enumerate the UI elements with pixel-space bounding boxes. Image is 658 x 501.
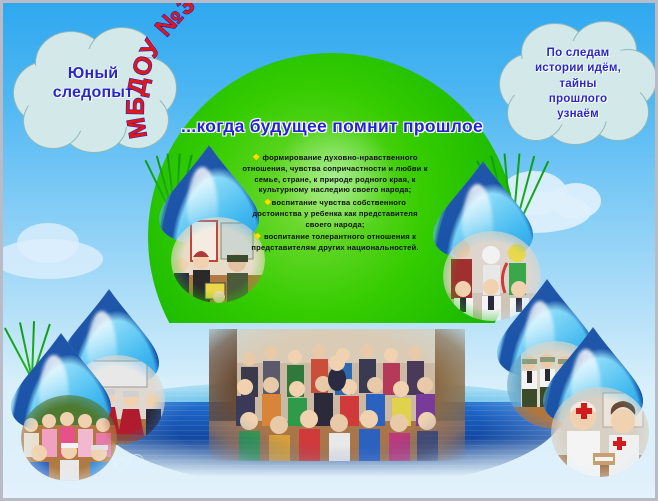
sky-cloud-right-c — [551, 183, 601, 219]
left-cloud-text: Юный следопыт — [9, 65, 177, 103]
droplet-outdoor-group — [11, 333, 127, 501]
aim-item-2: ❖воспитание чувства собственного достоин… — [239, 196, 431, 230]
aims-text-block: ❖ формирование духовно-нравственного отн… — [239, 151, 431, 254]
right-cloud-line-2: истории идём, — [499, 60, 657, 75]
droplet-nurse-roleplay — [543, 327, 658, 501]
aim-text-3: воспитание толерантного отношения к пред… — [251, 232, 418, 252]
right-cloud-text: По следам истории идём, тайны прошлого у… — [499, 45, 657, 121]
bullet-star-icon-1: ❖ — [252, 152, 260, 162]
aim-text-1: формирование духовно-нравственного отнош… — [242, 153, 427, 194]
photo-large-group-portrait — [209, 329, 465, 461]
right-cloud-line-4: прошлого — [499, 91, 657, 106]
bullet-star-icon-2: ❖ — [264, 197, 272, 207]
poster-canvas: МБДОУ №3 «Т а м ч ы к а й» ...когда буду… — [0, 0, 658, 501]
right-cloud-line-3: тайны — [499, 76, 657, 91]
photo-outdoor-group-national-costumes — [21, 395, 117, 481]
left-cloud-line-2: следопыт — [9, 84, 177, 103]
bullet-star-icon-3: ❖ — [254, 231, 262, 241]
photo-nurse-roleplay — [551, 387, 649, 477]
aim-text-2: воспитание чувства собственного достоинс… — [252, 198, 417, 229]
outdoor-group-art — [21, 395, 117, 481]
left-cloud-line-1: Юный — [9, 65, 177, 84]
right-cloud-line-1: По следам — [499, 45, 657, 60]
poster-subtitle: ...когда будущее помнит прошлое — [3, 116, 658, 137]
aim-item-1: ❖ формирование духовно-нравственного отн… — [239, 151, 431, 196]
nurse-roleplay-art — [551, 387, 649, 477]
sky-cloud-left-b — [17, 223, 79, 263]
group-portrait-art — [209, 329, 465, 461]
aim-item-3: ❖ воспитание толерантного отношения к пр… — [239, 230, 431, 254]
